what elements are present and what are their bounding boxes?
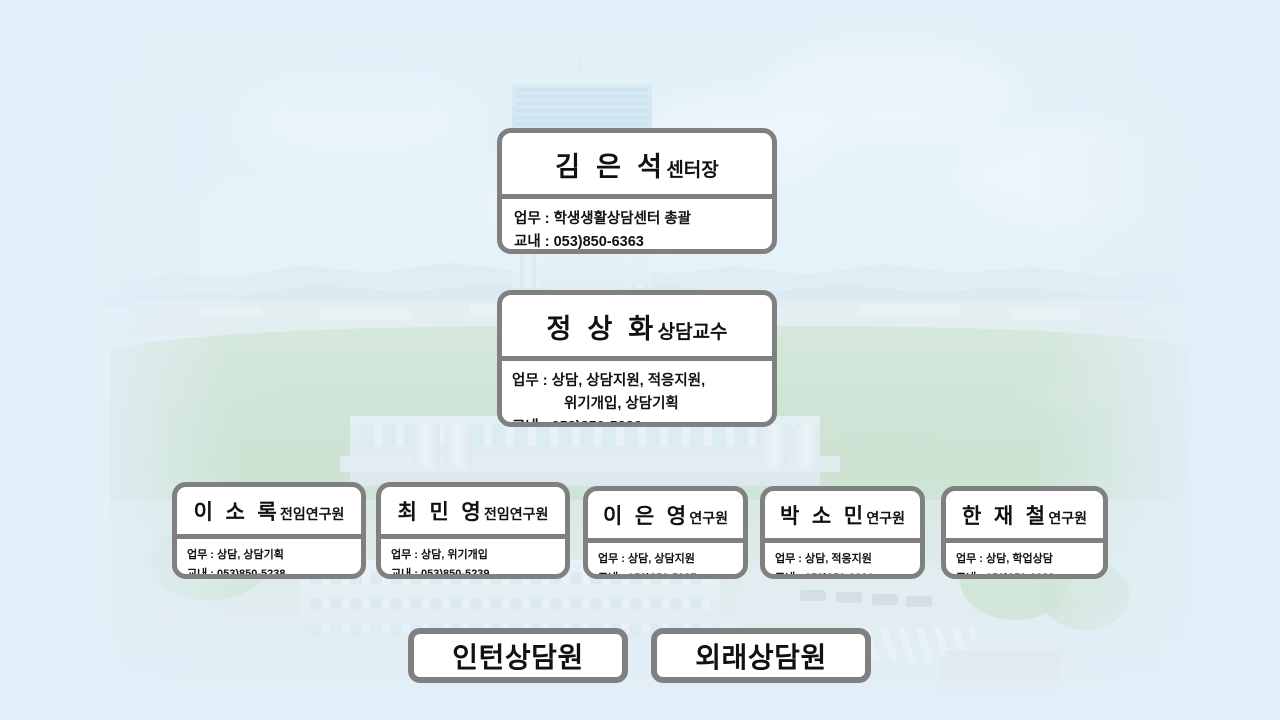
organization-chart: 김 은 석센터장 업무 : 학생생활상담센터 총괄 교내 : 053)850-6… xyxy=(0,0,1280,720)
duty-line: 업무 : 상담, 상담지원, 적응지원, xyxy=(512,370,772,393)
phone-line: 교내 : 053)850-6881 xyxy=(775,569,920,579)
person-title: 센터장 xyxy=(666,160,718,181)
org-node-researcher-1[interactable]: 이 소 록전임연구원 업무 : 상담, 상담기획 교내 : 053)850-52… xyxy=(172,482,366,579)
duty-line: 업무 : 상담, 상담기획 xyxy=(187,546,361,565)
support-role-label: 인턴상담원 xyxy=(452,636,584,676)
phone-line: 교내 : 053)850-6363 xyxy=(514,231,772,254)
person-title: 전임연구원 xyxy=(280,506,344,522)
duty-line: 업무 : 상담, 학업상담 xyxy=(956,550,1103,569)
person-name: 이 은 영 xyxy=(603,505,689,528)
support-role-label: 외래상담원 xyxy=(695,636,827,676)
person-title: 연구원 xyxy=(689,510,728,526)
org-node-researcher-4[interactable]: 박 소 민연구원 업무 : 상담, 적응지원 교내 : 053)850-6881 xyxy=(760,486,925,579)
phone-line: 교내 : 053)850-6883 xyxy=(956,569,1103,579)
org-node-center-head[interactable]: 김 은 석센터장 업무 : 학생생활상담센터 총괄 교내 : 053)850-6… xyxy=(497,128,777,254)
node-name-row: 이 은 영연구원 xyxy=(588,491,743,538)
node-body: 업무 : 상담, 상담지원, 적응지원, 위기개입, 상담기획 교내 : 053… xyxy=(502,361,772,427)
phone-line: 교내 : 053)850-5239 xyxy=(391,565,565,579)
person-name: 이 소 록 xyxy=(194,501,280,524)
person-name: 정 상 화 xyxy=(546,314,657,344)
node-name-row: 이 소 록전임연구원 xyxy=(177,487,361,534)
duty-line-continued: 위기개입, 상담기획 xyxy=(512,393,772,416)
node-body: 업무 : 상담, 상담지원 교내 : 053)850-5237 xyxy=(588,543,743,579)
org-node-researcher-2[interactable]: 최 민 영전임연구원 업무 : 상담, 위기개입 교내 : 053)850-52… xyxy=(376,482,570,579)
node-name-row: 정 상 화상담교수 xyxy=(502,295,772,356)
duty-line: 업무 : 상담, 상담지원 xyxy=(598,550,743,569)
node-body: 업무 : 상담, 위기개입 교내 : 053)850-5239 xyxy=(381,539,565,579)
person-title: 전임연구원 xyxy=(484,506,548,522)
org-node-external-counselor[interactable]: 외래상담원 xyxy=(651,628,871,683)
org-node-intern-counselor[interactable]: 인턴상담원 xyxy=(408,628,628,683)
duty-line: 업무 : 상담, 적응지원 xyxy=(775,550,920,569)
node-body: 업무 : 학생생활상담센터 총괄 교내 : 053)850-6363 xyxy=(502,199,772,254)
node-body: 업무 : 상담, 학업상담 교내 : 053)850-6883 xyxy=(946,543,1103,579)
person-name: 한 재 철 xyxy=(962,505,1048,528)
person-name: 최 민 영 xyxy=(398,501,484,524)
org-node-researcher-3[interactable]: 이 은 영연구원 업무 : 상담, 상담지원 교내 : 053)850-5237 xyxy=(583,486,748,579)
node-name-row: 김 은 석센터장 xyxy=(502,133,772,194)
node-name-row: 최 민 영전임연구원 xyxy=(381,487,565,534)
phone-line: 교내 : 053)850-5238 xyxy=(187,565,361,579)
node-body: 업무 : 상담, 상담기획 교내 : 053)850-5238 xyxy=(177,539,361,579)
person-name: 김 은 석 xyxy=(555,152,666,182)
node-name-row: 한 재 철연구원 xyxy=(946,491,1103,538)
phone-line: 교내 : 053)850-5237 xyxy=(598,569,743,579)
duty-line: 업무 : 학생생활상담센터 총괄 xyxy=(514,208,772,231)
node-body: 업무 : 상담, 적응지원 교내 : 053)850-6881 xyxy=(765,543,920,579)
org-node-researcher-5[interactable]: 한 재 철연구원 업무 : 상담, 학업상담 교내 : 053)850-6883 xyxy=(941,486,1108,579)
org-chart-slide: 김 은 석센터장 업무 : 학생생활상담센터 총괄 교내 : 053)850-6… xyxy=(0,0,1280,720)
person-title: 연구원 xyxy=(1048,510,1087,526)
org-node-counseling-professor[interactable]: 정 상 화상담교수 업무 : 상담, 상담지원, 적응지원, 위기개입, 상담기… xyxy=(497,290,777,427)
person-name: 박 소 민 xyxy=(780,505,866,528)
duty-line: 업무 : 상담, 위기개입 xyxy=(391,546,565,565)
node-name-row: 박 소 민연구원 xyxy=(765,491,920,538)
person-title: 연구원 xyxy=(866,510,905,526)
phone-line: 교내 : 053)850-5236 xyxy=(512,416,772,427)
person-title: 상담교수 xyxy=(658,322,728,343)
